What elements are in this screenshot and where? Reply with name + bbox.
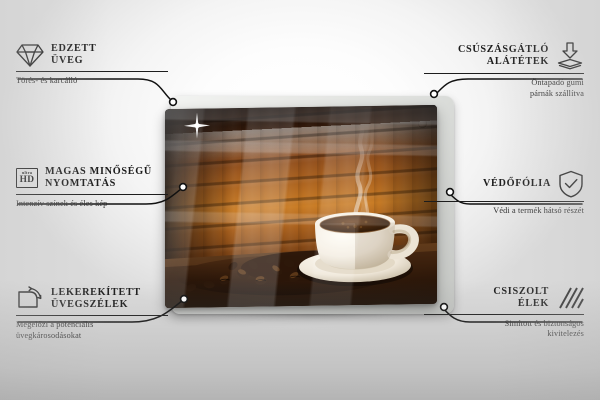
feature-subtitle-line1: Simított és biztonságos: [424, 319, 584, 329]
feature-subtitle-line1: Megelőzi a potenciális: [16, 320, 168, 330]
feature-subtitle-line1: Törés- és karcálló: [16, 76, 168, 86]
hd-badge-lower: HD: [20, 176, 35, 185]
feature-title-line2: ÉLEK: [493, 298, 549, 310]
feature-divider: [16, 194, 168, 195]
feature-polished-edges[interactable]: CSISZOLT ÉLEK Simított és biztonságos ki…: [424, 286, 584, 340]
feature-title-line2: ALÁTÉTEK: [458, 56, 549, 68]
feature-subtitle-line2: üvegkárosodásokat: [16, 331, 168, 341]
feature-subtitle-line1: Intenzív színek és éles kép: [16, 199, 168, 209]
feature-tempered-glass[interactable]: EDZETT ÜVEG Törés- és karcálló: [16, 42, 168, 87]
feature-title-line1: LEKEREKÍTETT: [51, 287, 141, 299]
feature-rounded-glass-edges[interactable]: LEKEREKÍTETT ÜVEGSZÉLEK Megelőzi a poten…: [16, 286, 168, 341]
diamond-icon: [16, 42, 44, 68]
feature-protective-film[interactable]: VÉDŐFÓLIA Védi a termék hátsó részét: [424, 170, 584, 217]
feature-divider: [16, 71, 168, 72]
ultra-hd-badge-icon: ultra HD: [16, 168, 38, 188]
infographic-canvas: EDZETT ÜVEG Törés- és karcálló ultra HD …: [0, 0, 600, 400]
feature-title-line1: VÉDŐFÓLIA: [483, 178, 551, 190]
feature-title-line2: NYOMTATÁS: [45, 178, 152, 190]
feature-subtitle-line1: Öntapadó gumi: [424, 78, 584, 88]
printed-glass-panel: [165, 105, 437, 308]
feature-divider: [424, 201, 584, 202]
feature-divider: [16, 315, 168, 316]
feature-divider: [424, 73, 584, 74]
rounded-corner-icon: [16, 286, 44, 312]
coffee-photo: [165, 105, 437, 308]
feature-title-line1: EDZETT: [51, 43, 97, 55]
feature-title-line1: MAGAS MINŐSÉGŰ: [45, 166, 152, 178]
feature-subtitle-line1: Védi a termék hátsó részét: [424, 206, 584, 216]
feature-high-quality-print[interactable]: ultra HD MAGAS MINŐSÉGŰ NYOMTATÁS Intenz…: [16, 166, 168, 209]
feature-title-line2: ÜVEG: [51, 55, 97, 67]
feature-subtitle-line2: párnák szállítva: [424, 89, 584, 99]
product-image-glass-splashback[interactable]: [171, 96, 454, 314]
feature-title-line2: ÜVEGSZÉLEK: [51, 299, 141, 311]
shield-check-icon: [558, 170, 584, 198]
diagonal-lines-icon: [556, 286, 584, 310]
stacked-pads-arrow-icon: [556, 42, 584, 70]
feature-subtitle-line2: kivitelezés: [424, 329, 584, 339]
glass-gloss-overlay: [165, 105, 437, 308]
feature-title-line1: CSISZOLT: [493, 286, 549, 298]
feature-title-line1: CSÚSZÁSGÁTLÓ: [458, 44, 549, 56]
feature-anti-slip-pads[interactable]: CSÚSZÁSGÁTLÓ ALÁTÉTEK Öntapadó gumi párn…: [424, 42, 584, 99]
feature-divider: [424, 314, 584, 315]
